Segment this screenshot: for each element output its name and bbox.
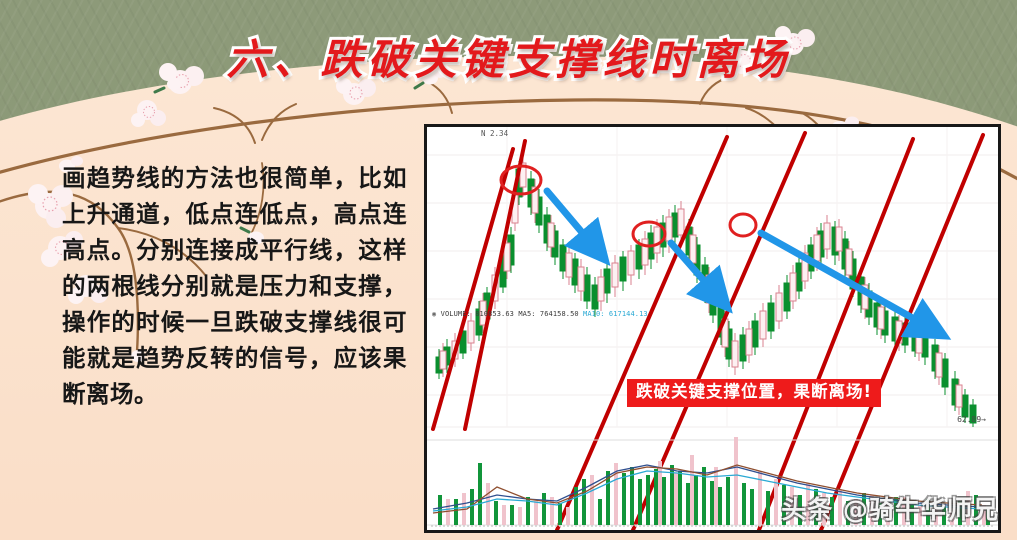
price-tag-top: N 2.34 bbox=[481, 129, 508, 138]
slide-canvas: 六、跌破关键支撑线时离场 画趋势线的方法也很简单，比如上升通道，低点连低点，高点… bbox=[0, 0, 1017, 540]
last-price-tag: 62.89→ bbox=[957, 415, 986, 424]
volume-label-main: VOLUME: 810853.63 MA5: 764158.50 bbox=[441, 310, 583, 318]
volume-ma10-label: MA10: 617144.13 bbox=[583, 310, 648, 318]
chart-callout-banner: 跌破关键支撑位置，果断离场! bbox=[627, 379, 881, 407]
body-paragraph: 画趋势线的方法也很简单，比如上升通道，低点连低点，高点连高点。分别连接成平行线，… bbox=[62, 160, 407, 412]
page-title: 六、跌破关键支撑线时离场 bbox=[0, 26, 1017, 87]
volume-indicator-label: ◉ VOLUME: 810853.63 MA5: 764158.50 MA10:… bbox=[432, 310, 648, 318]
volume-bullet-icon: ◉ bbox=[432, 310, 436, 318]
stock-chart-panel[interactable]: N 2.34 跌破关键支撑位置，果断离场! ◉ VOLUME: 810853.6… bbox=[424, 124, 1001, 533]
candlestick-chart bbox=[427, 127, 998, 530]
